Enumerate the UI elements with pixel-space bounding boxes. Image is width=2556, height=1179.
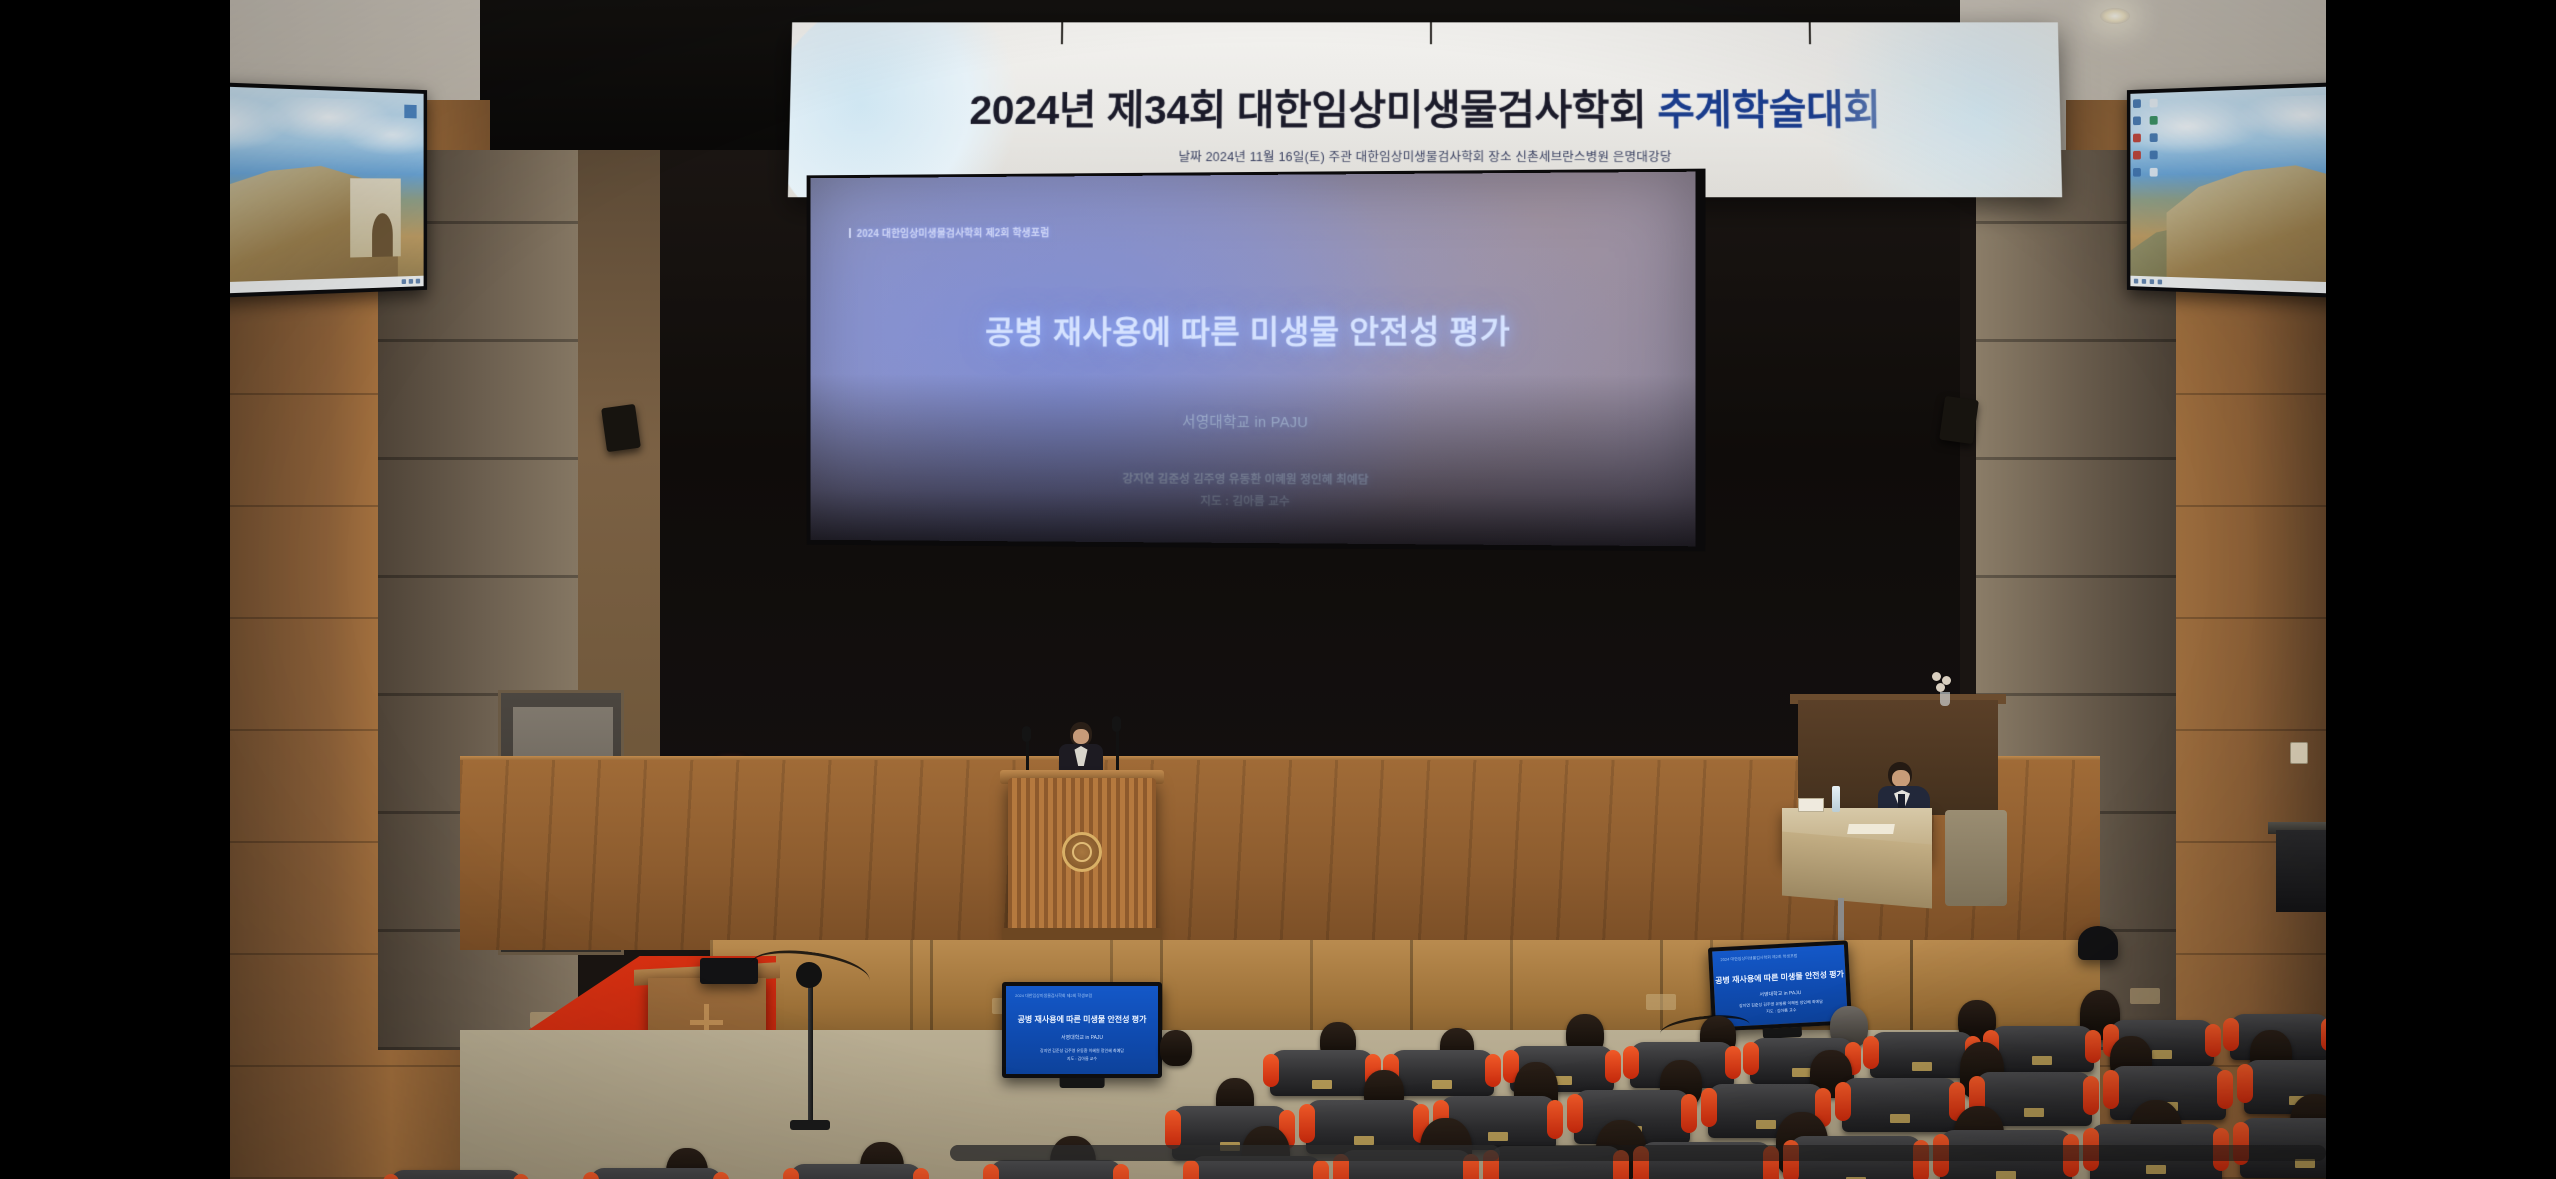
- app-icon[interactable]: [2150, 116, 2158, 125]
- wall-outlet: [2290, 742, 2308, 764]
- banner-hanger: [1809, 22, 1811, 44]
- letterboxed-photo-frame: 2024년 제34회 대한임상미생물검사학회 추계학술대회 날짜 2024년 1…: [0, 0, 2556, 1179]
- audience-seat: [790, 1164, 922, 1179]
- explorer-icon[interactable]: [2150, 279, 2154, 284]
- audience-seat: [1270, 1050, 1374, 1096]
- network-icon[interactable]: [402, 279, 406, 284]
- system-tray[interactable]: [402, 279, 420, 284]
- apron-vent-plate: [1646, 994, 1676, 1010]
- pdf-icon[interactable]: [2133, 134, 2141, 143]
- desktop-icon-row: [2133, 99, 2158, 108]
- banner-hanger: [1061, 22, 1063, 44]
- moderator-desk-front: [1782, 831, 1932, 908]
- audience-head: [1160, 1030, 1192, 1066]
- clock-icon[interactable]: [416, 279, 420, 284]
- slide-kicker-bar: [849, 228, 851, 238]
- right-desktop-wallpaper: [2130, 84, 2326, 297]
- flower-petal: [1932, 672, 1941, 681]
- search-icon[interactable]: [2142, 279, 2146, 284]
- podium-base: [1002, 928, 1162, 940]
- apron-vent-plate: [2130, 988, 2160, 1004]
- cmon-advisor: 지도 : 김아름 교수: [1006, 1056, 1158, 1062]
- floor-speaker: [2078, 926, 2118, 960]
- audience-seat: [1842, 1078, 1958, 1132]
- audience-seat: [390, 1170, 522, 1179]
- monitor-stand: [1060, 1078, 1105, 1088]
- desktop-icon-grid[interactable]: [2133, 99, 2158, 177]
- wall-speaker: [601, 404, 641, 452]
- banner-hanger: [1430, 22, 1432, 44]
- water-bottle: [1832, 786, 1840, 812]
- vase: [1940, 692, 1950, 706]
- moderator-face: [1892, 770, 1910, 787]
- wallpaper-clouds: [2130, 92, 2326, 167]
- auditorium-photo: 2024년 제34회 대한임상미생물검사학회 추계학술대회 날짜 2024년 1…: [230, 0, 2326, 1179]
- audience-seat: [1390, 1050, 1494, 1096]
- equipment-table: [2276, 830, 2326, 912]
- audience-seat: [1990, 1026, 2094, 1072]
- video-progress-bar[interactable]: [950, 1145, 2326, 1161]
- audience-seat: [1870, 1032, 1974, 1078]
- cmon-org: 서영대학교 in PAJU: [1006, 1034, 1158, 1041]
- this-pc-icon[interactable]: [2133, 99, 2141, 108]
- slide-kicker-text: 2024 대한임상미생물검사학회 제2회 학생포럼: [857, 228, 1050, 240]
- volume-icon[interactable]: [409, 279, 413, 284]
- media-icon[interactable]: [2133, 151, 2141, 160]
- moderator-nameplate: [1798, 798, 1824, 812]
- aisle-mic-head: [796, 962, 822, 988]
- windows-logo-icon: [404, 105, 416, 119]
- slide-title: 공병 재사용에 따른 미생물 안전성 평가: [810, 306, 1695, 353]
- wallpaper-bridge-arch: [372, 213, 393, 256]
- flower-petal: [1936, 683, 1945, 692]
- aisle-mic-pole: [808, 980, 813, 1125]
- moderator-chair: [1945, 810, 2007, 906]
- left-desktop-wallpaper: [230, 84, 424, 297]
- cmon-authors: 강지연 김준성 김주영 유동환 이혜원 정인혜 최예담: [1006, 1048, 1158, 1054]
- wallpaper-cliff: [2166, 156, 2326, 295]
- folder-icon[interactable]: [2133, 116, 2141, 125]
- cross-icon-bar: [690, 1020, 723, 1025]
- wall-speaker: [1939, 396, 1979, 444]
- cmon-kicker: 2024 대한임상미생물검사학회 제2회 학생포럼: [1015, 993, 1092, 999]
- recycle-bin-icon[interactable]: [2150, 99, 2158, 108]
- left-side-projection-screen: [230, 79, 427, 300]
- desktop-icon-row: [2133, 116, 2158, 125]
- main-projection-screen: 2024 대한임상미생물검사학회 제2회 학생포럼 공병 재사용에 따른 미생물…: [810, 172, 1695, 547]
- banner-title-accent: 추계학술대회: [1657, 87, 1881, 133]
- presenter-face: [1073, 729, 1089, 744]
- confidence-monitor-left-screen: 2024 대한임상미생물검사학회 제2회 학생포럼 공병 재사용에 따른 미생물…: [1002, 982, 1162, 1078]
- podium-mic-head: [1112, 716, 1121, 732]
- banner-subtitle: 날짜 2024년 11월 16일(토) 주관 대한임상미생물검사학회 장소 신촌…: [789, 146, 2062, 165]
- slide-organization: 서영대학교 in PAJU: [810, 410, 1695, 433]
- audience-seat: [590, 1168, 722, 1179]
- start-icon[interactable]: [2134, 279, 2138, 284]
- audience-seat: [990, 1160, 1122, 1179]
- desktop-icon-row: [2133, 168, 2158, 177]
- cmon-title: 공병 재사용에 따른 미생물 안전성 평가: [1713, 969, 1845, 987]
- document-icon[interactable]: [2133, 168, 2141, 177]
- podium-mic-head: [1022, 726, 1031, 742]
- shortcut-icon[interactable]: [2150, 168, 2158, 177]
- right-side-projection-screen: [2127, 79, 2326, 300]
- browser-icon[interactable]: [2150, 151, 2158, 160]
- cmon-kicker: 2024 대한임상미생물검사학회 제2회 학생포럼: [1720, 953, 1797, 963]
- banner-title: 2024년 제34회 대한임상미생물검사학회 추계학술대회: [789, 76, 2060, 136]
- banner-title-main: 2024년 제34회 대한임상미생물검사학회: [969, 87, 1657, 133]
- podium: [1008, 778, 1156, 938]
- browser-icon[interactable]: [2158, 279, 2162, 284]
- powerpoint-icon[interactable]: [2150, 133, 2158, 142]
- cmon-title: 공병 재사용에 따른 미생물 안전성 평가: [1006, 1014, 1158, 1025]
- papers-on-desk: [1847, 824, 1895, 834]
- flower-arrangement: [1932, 672, 1958, 704]
- video-progress-fill: [950, 1145, 1500, 1161]
- ceiling-light: [2100, 8, 2130, 24]
- confidence-monitor-left: 2024 대한임상미생물검사학회 제2회 학생포럼 공병 재사용에 따른 미생물…: [1002, 982, 1162, 1078]
- aisle-mic-base: [790, 1120, 830, 1130]
- wallpaper-clouds: [230, 92, 424, 167]
- desktop-icon-row: [2133, 133, 2158, 142]
- equipment-case: [700, 958, 758, 984]
- slide-kicker: 2024 대한임상미생물검사학회 제2회 학생포럼: [849, 224, 1049, 240]
- desktop-icon-row: [2133, 151, 2158, 160]
- podium-emblem-icon: [1062, 832, 1102, 872]
